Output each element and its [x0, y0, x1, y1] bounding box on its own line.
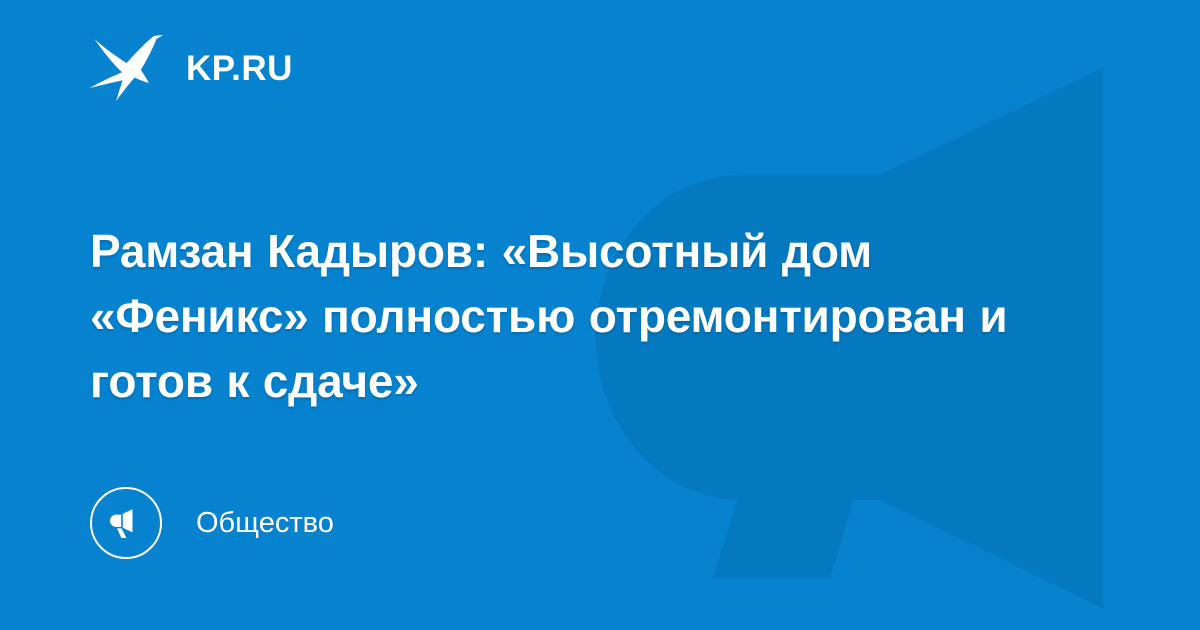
- swallow-bird-icon: [90, 35, 164, 101]
- page-title: Рамзан Кадыров: «Высотный дом «Феникс» п…: [90, 219, 1090, 414]
- megaphone-icon: [90, 487, 162, 559]
- brand-logo[interactable]: KP.RU: [90, 32, 293, 104]
- rubric-label: Общество: [196, 509, 334, 538]
- rubric[interactable]: Общество: [90, 487, 334, 559]
- share-card: KP.RU Рамзан Кадыров: «Высотный дом «Фен…: [0, 0, 1200, 630]
- brand-name: KP.RU: [186, 51, 293, 86]
